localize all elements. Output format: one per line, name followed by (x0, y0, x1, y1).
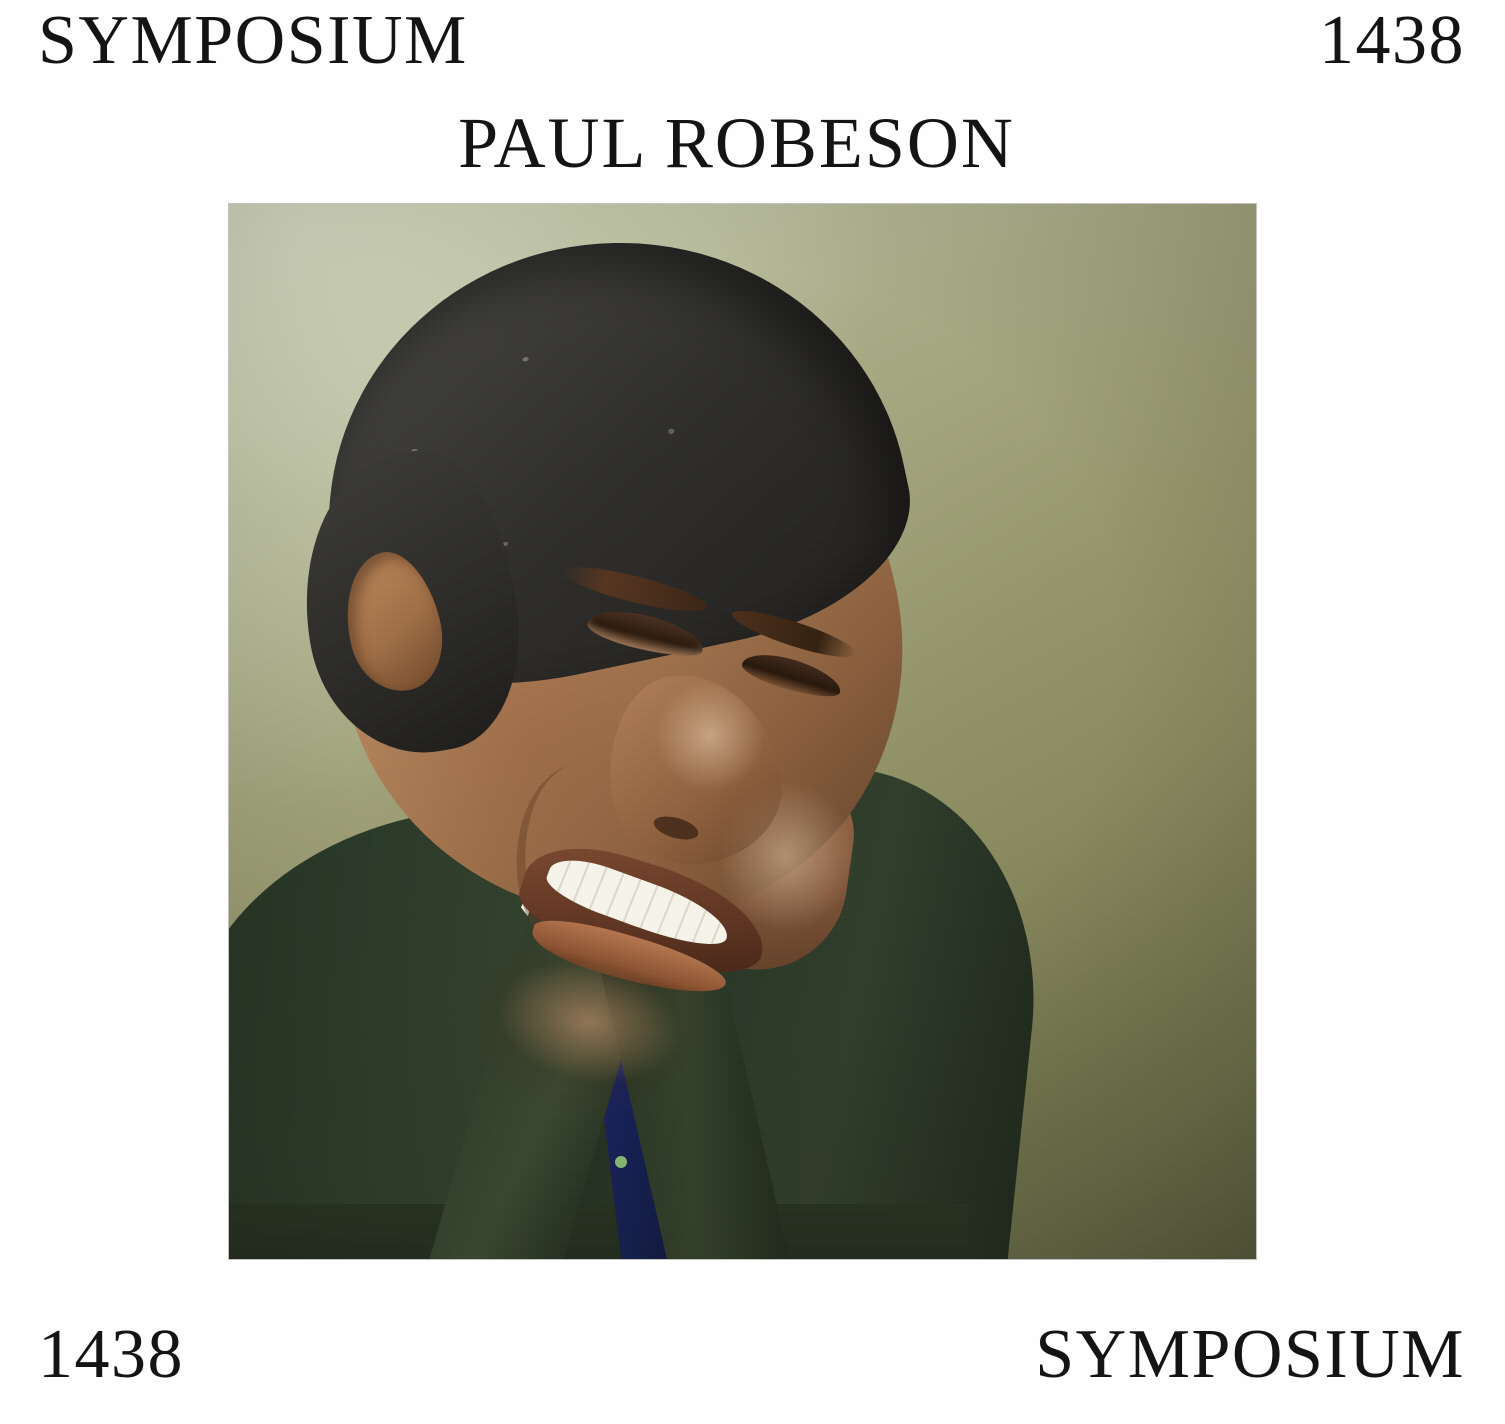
footer-catalog-number: 1438 (38, 1318, 184, 1392)
footer-label-right: SYMPOSIUM (1035, 1318, 1465, 1392)
header-catalog-number: 1438 (1319, 4, 1465, 78)
header-label-left: SYMPOSIUM (38, 4, 468, 78)
photo-grain (229, 204, 1256, 1259)
cover-photograph (229, 204, 1256, 1259)
header-row: SYMPOSIUM 1438 (0, 4, 1505, 84)
album-title: PAUL ROBESON (0, 104, 1505, 182)
footer-row: 1438 SYMPOSIUM (0, 1318, 1505, 1398)
album-cover: SYMPOSIUM 1438 PAUL ROBESON (0, 0, 1505, 1424)
album-title-text: PAUL ROBESON (458, 103, 1015, 183)
